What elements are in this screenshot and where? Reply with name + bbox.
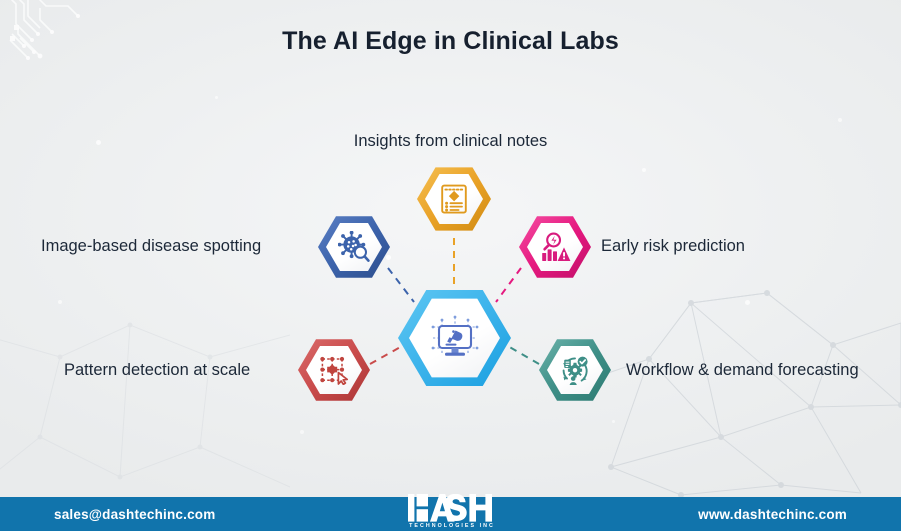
dash-logo-tagline: TECHNOLOGIES INC: [409, 523, 495, 529]
footer-website[interactable]: www.dashtechinc.com: [451, 507, 901, 522]
hex-node-workflow[interactable]: [539, 338, 611, 402]
footer-email[interactable]: sales@dashtechinc.com: [0, 507, 451, 522]
node-label-notes: Insights from clinical notes: [0, 132, 901, 152]
node-label-imaging: Image-based disease spotting: [41, 237, 261, 257]
virus-magnifier-icon: [338, 231, 370, 263]
hex-node-notes[interactable]: [417, 166, 491, 232]
hex-node-pattern[interactable]: [298, 338, 370, 402]
footer-bar: sales@dashtechinc.com www.dashtechinc.co…: [0, 497, 901, 531]
clinical-document-icon: [439, 183, 469, 215]
infographic-canvas: The AI Edge in Clinical Labs: [0, 0, 901, 531]
dash-wordmark-icon: [408, 494, 494, 522]
pattern-nodes-cursor-icon: [318, 355, 350, 385]
risk-analytics-icon: [539, 232, 571, 262]
node-label-workflow: Workflow & demand forecasting: [626, 361, 859, 381]
hex-node-risk[interactable]: [519, 215, 591, 279]
microscope-on-monitor-icon: [428, 314, 482, 362]
workflow-gear-cycle-icon: [559, 354, 591, 386]
dash-logo: TECHNOLOGIES INC: [391, 485, 511, 529]
node-label-risk: Early risk prediction: [601, 237, 745, 257]
hex-node-center[interactable]: [398, 288, 511, 388]
node-label-pattern: Pattern detection at scale: [64, 361, 250, 381]
hex-node-imaging[interactable]: [318, 215, 390, 279]
